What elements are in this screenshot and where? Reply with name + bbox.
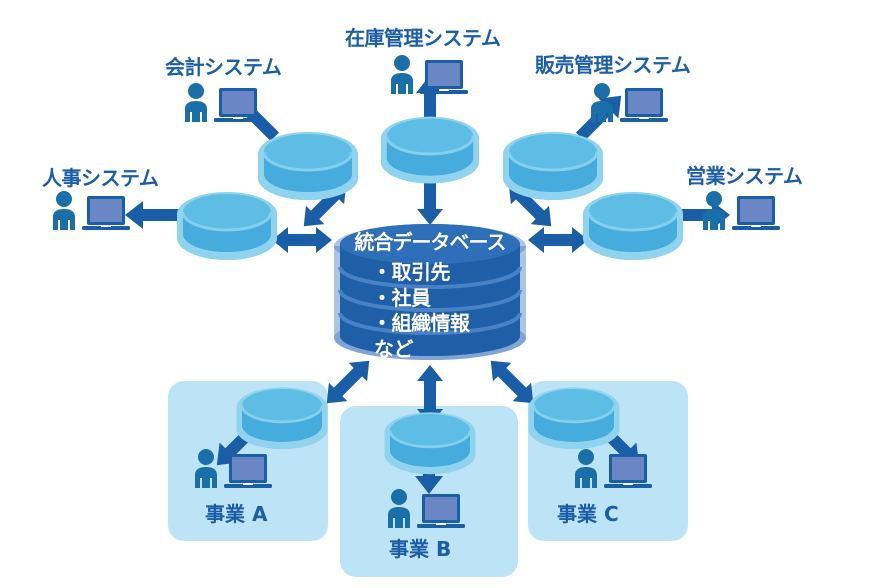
system-label-sales-mgmt: 販売管理システム [535, 55, 690, 75]
actor-unit-b [385, 488, 471, 532]
person-laptop-icon [572, 448, 658, 494]
database-cylinder-biz-dev [578, 188, 688, 270]
database-cylinder-icon [578, 188, 688, 270]
central-database-item: ・社員 [372, 286, 532, 312]
actor-biz-dev [700, 190, 786, 234]
person-laptop-icon [50, 190, 136, 236]
system-label-accounting: 会計システム [165, 57, 281, 77]
central-database: 統合データベース ・取引先 ・社員 ・組織情報 など [330, 222, 530, 362]
central-database-etc: など [372, 337, 532, 363]
database-cylinder-inventory [376, 112, 484, 194]
unit-label-c: 事業 C [557, 504, 619, 524]
central-database-title: 統合データベース [330, 232, 530, 252]
person-laptop-icon [700, 190, 786, 236]
person-laptop-icon [588, 82, 674, 128]
central-database-item: ・取引先 [372, 260, 532, 286]
person-laptop-icon [388, 54, 474, 100]
diagram-canvas: 統合データベース ・取引先 ・社員 ・組織情報 など 人事システム 会計システム… [0, 0, 870, 588]
person-laptop-icon [385, 488, 471, 534]
actor-inventory [388, 54, 474, 98]
actor-unit-a [192, 448, 278, 492]
unit-label-b: 事業 B [389, 539, 451, 559]
person-laptop-icon [182, 82, 268, 128]
person-laptop-icon [192, 448, 278, 494]
database-cylinder-unit-b [380, 408, 480, 484]
database-cylinder-icon [376, 112, 484, 194]
database-cylinder-icon [380, 408, 480, 484]
actor-unit-c [572, 448, 658, 492]
system-label-hr: 人事システム [42, 168, 158, 188]
actor-sales-mgmt [588, 82, 674, 126]
actor-hr [50, 190, 136, 234]
actor-accounting [182, 82, 268, 126]
database-cylinder-accounting [253, 128, 363, 210]
database-cylinder-icon [253, 128, 363, 210]
system-label-biz-dev: 営業システム [686, 166, 802, 186]
system-label-inventory: 在庫管理システム [345, 28, 500, 48]
unit-label-a: 事業 A [205, 504, 267, 524]
central-database-item: ・組織情報 [372, 311, 532, 337]
